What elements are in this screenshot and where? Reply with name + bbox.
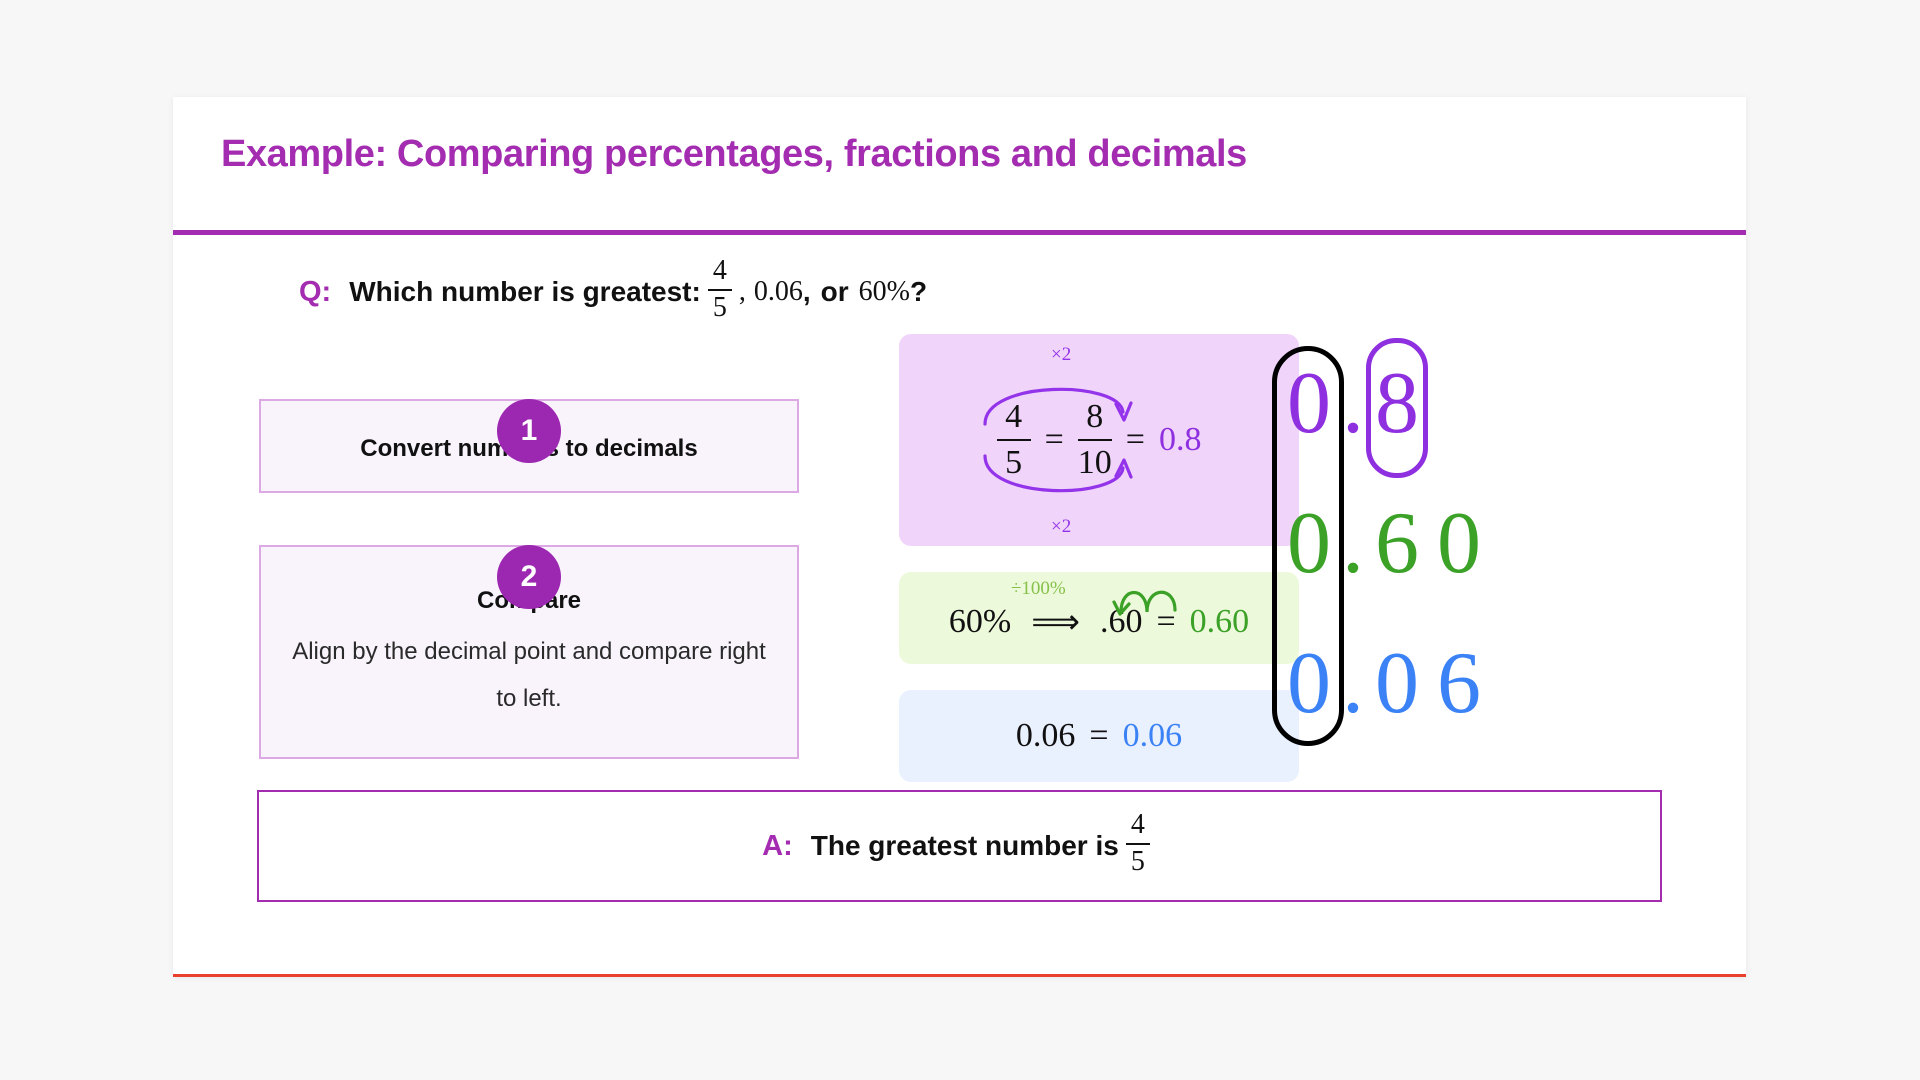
- percent-conversion-panel: ÷100% 60% ⟹ .60 = 0.60: [899, 572, 1299, 664]
- fraction-denominator: 5: [709, 294, 731, 323]
- question-row: Q: Which number is greatest: 4 5 , 0.06 …: [299, 257, 927, 327]
- question-conjunction: or: [821, 276, 849, 308]
- row-2-hundredths: 0: [1428, 500, 1490, 588]
- question-decimal: 0.06: [754, 276, 803, 308]
- work-panels: ×2 ×2 4 5 =: [899, 334, 1299, 782]
- decimal-panel-result: 0.06: [1123, 717, 1183, 755]
- fraction-panel-result: 0.8: [1159, 421, 1202, 459]
- answer-box: A: The greatest number is 4 5: [257, 790, 1662, 902]
- step-1-badge: 1: [497, 399, 561, 463]
- fraction-conversion-panel: ×2 ×2 4 5 =: [899, 334, 1299, 546]
- multiply-label-bottom: ×2: [1051, 516, 1071, 538]
- slide-card: Example: Comparing percentages, fraction…: [173, 97, 1746, 977]
- panel-fraction-right: 8 10: [1078, 399, 1112, 480]
- percent-shifted: .60: [1100, 603, 1143, 641]
- answer-fraction-numerator: 4: [1127, 811, 1149, 840]
- row-3-tenths: 0: [1366, 640, 1428, 728]
- page-title: Example: Comparing percentages, fraction…: [221, 133, 1247, 176]
- percent-equals: =: [1156, 603, 1175, 641]
- answer-statement: The greatest number is: [811, 830, 1119, 862]
- percent-source: 60%: [949, 603, 1011, 641]
- question-comma-2: ,: [803, 276, 811, 308]
- fraction-bar: [708, 289, 732, 291]
- panel-fraction-left-numerator: 4: [1005, 399, 1022, 434]
- steps-column: 1 Convert numbers to decimals 2 Compare …: [259, 367, 799, 811]
- fraction-equation: 4 5 = 8 10 = 0.8: [997, 399, 1202, 480]
- panel-fraction-left-denominator: 5: [1005, 445, 1022, 480]
- implies-arrow-icon: ⟹: [1031, 602, 1080, 642]
- question-fraction: 4 5: [708, 257, 732, 322]
- slide-container: Example: Comparing percentages, fraction…: [173, 97, 1746, 977]
- fraction-numerator: 4: [709, 257, 731, 286]
- answer-text: The greatest number is 4 5: [811, 813, 1157, 878]
- decimal-equation: 0.06 = 0.06: [1016, 717, 1182, 755]
- panel-fraction-right-numerator: 8: [1086, 399, 1103, 434]
- step-2-body: Align by the decimal point and compare r…: [285, 629, 773, 723]
- question-text: Which number is greatest: 4 5 , 0.06 , o…: [349, 259, 927, 324]
- decimal-identity-panel: 0.06 = 0.06: [899, 690, 1299, 782]
- question-comma-1: ,: [739, 276, 746, 308]
- percent-equation: 60% ⟹ .60 = 0.60: [949, 602, 1249, 642]
- divide-by-100-label: ÷100%: [1011, 578, 1066, 600]
- tenths-place-highlight-box: [1366, 338, 1428, 478]
- row-2-tenths: 6: [1366, 500, 1428, 588]
- decimal-equals: =: [1089, 717, 1108, 755]
- ones-place-highlight-box: [1272, 346, 1344, 746]
- answer-fraction-denominator: 5: [1127, 848, 1149, 877]
- answer-fraction: 4 5: [1126, 811, 1150, 876]
- panel-fraction-left: 4 5: [997, 399, 1031, 480]
- multiply-label-top: ×2: [1051, 344, 1071, 366]
- panel-equals-1: =: [1045, 421, 1064, 459]
- question-mark: ?: [910, 276, 927, 308]
- percent-panel-result: 0.60: [1190, 603, 1250, 641]
- question-percent: 60%: [859, 276, 910, 308]
- question-label: Q:: [299, 276, 331, 309]
- step-2-badge: 2: [497, 545, 561, 609]
- panel-fraction-left-bar: [997, 439, 1031, 442]
- question-prompt: Which number is greatest:: [349, 276, 701, 308]
- panel-fraction-right-bar: [1078, 439, 1112, 442]
- answer-label: A:: [762, 830, 793, 863]
- panel-fraction-right-denominator: 10: [1078, 445, 1112, 480]
- decimal-source: 0.06: [1016, 717, 1076, 755]
- answer-fraction-bar: [1126, 843, 1150, 845]
- panel-equals-2: =: [1126, 421, 1145, 459]
- step-1: 1 Convert numbers to decimals: [259, 399, 799, 493]
- row-3-hundredths: 6: [1428, 640, 1490, 728]
- title-divider: [173, 230, 1746, 235]
- aligned-decimal-column: 0 . 8 0 . 6 0 0 . 0 6: [1278, 334, 1598, 754]
- step-2: 2 Compare Align by the decimal point and…: [259, 545, 799, 759]
